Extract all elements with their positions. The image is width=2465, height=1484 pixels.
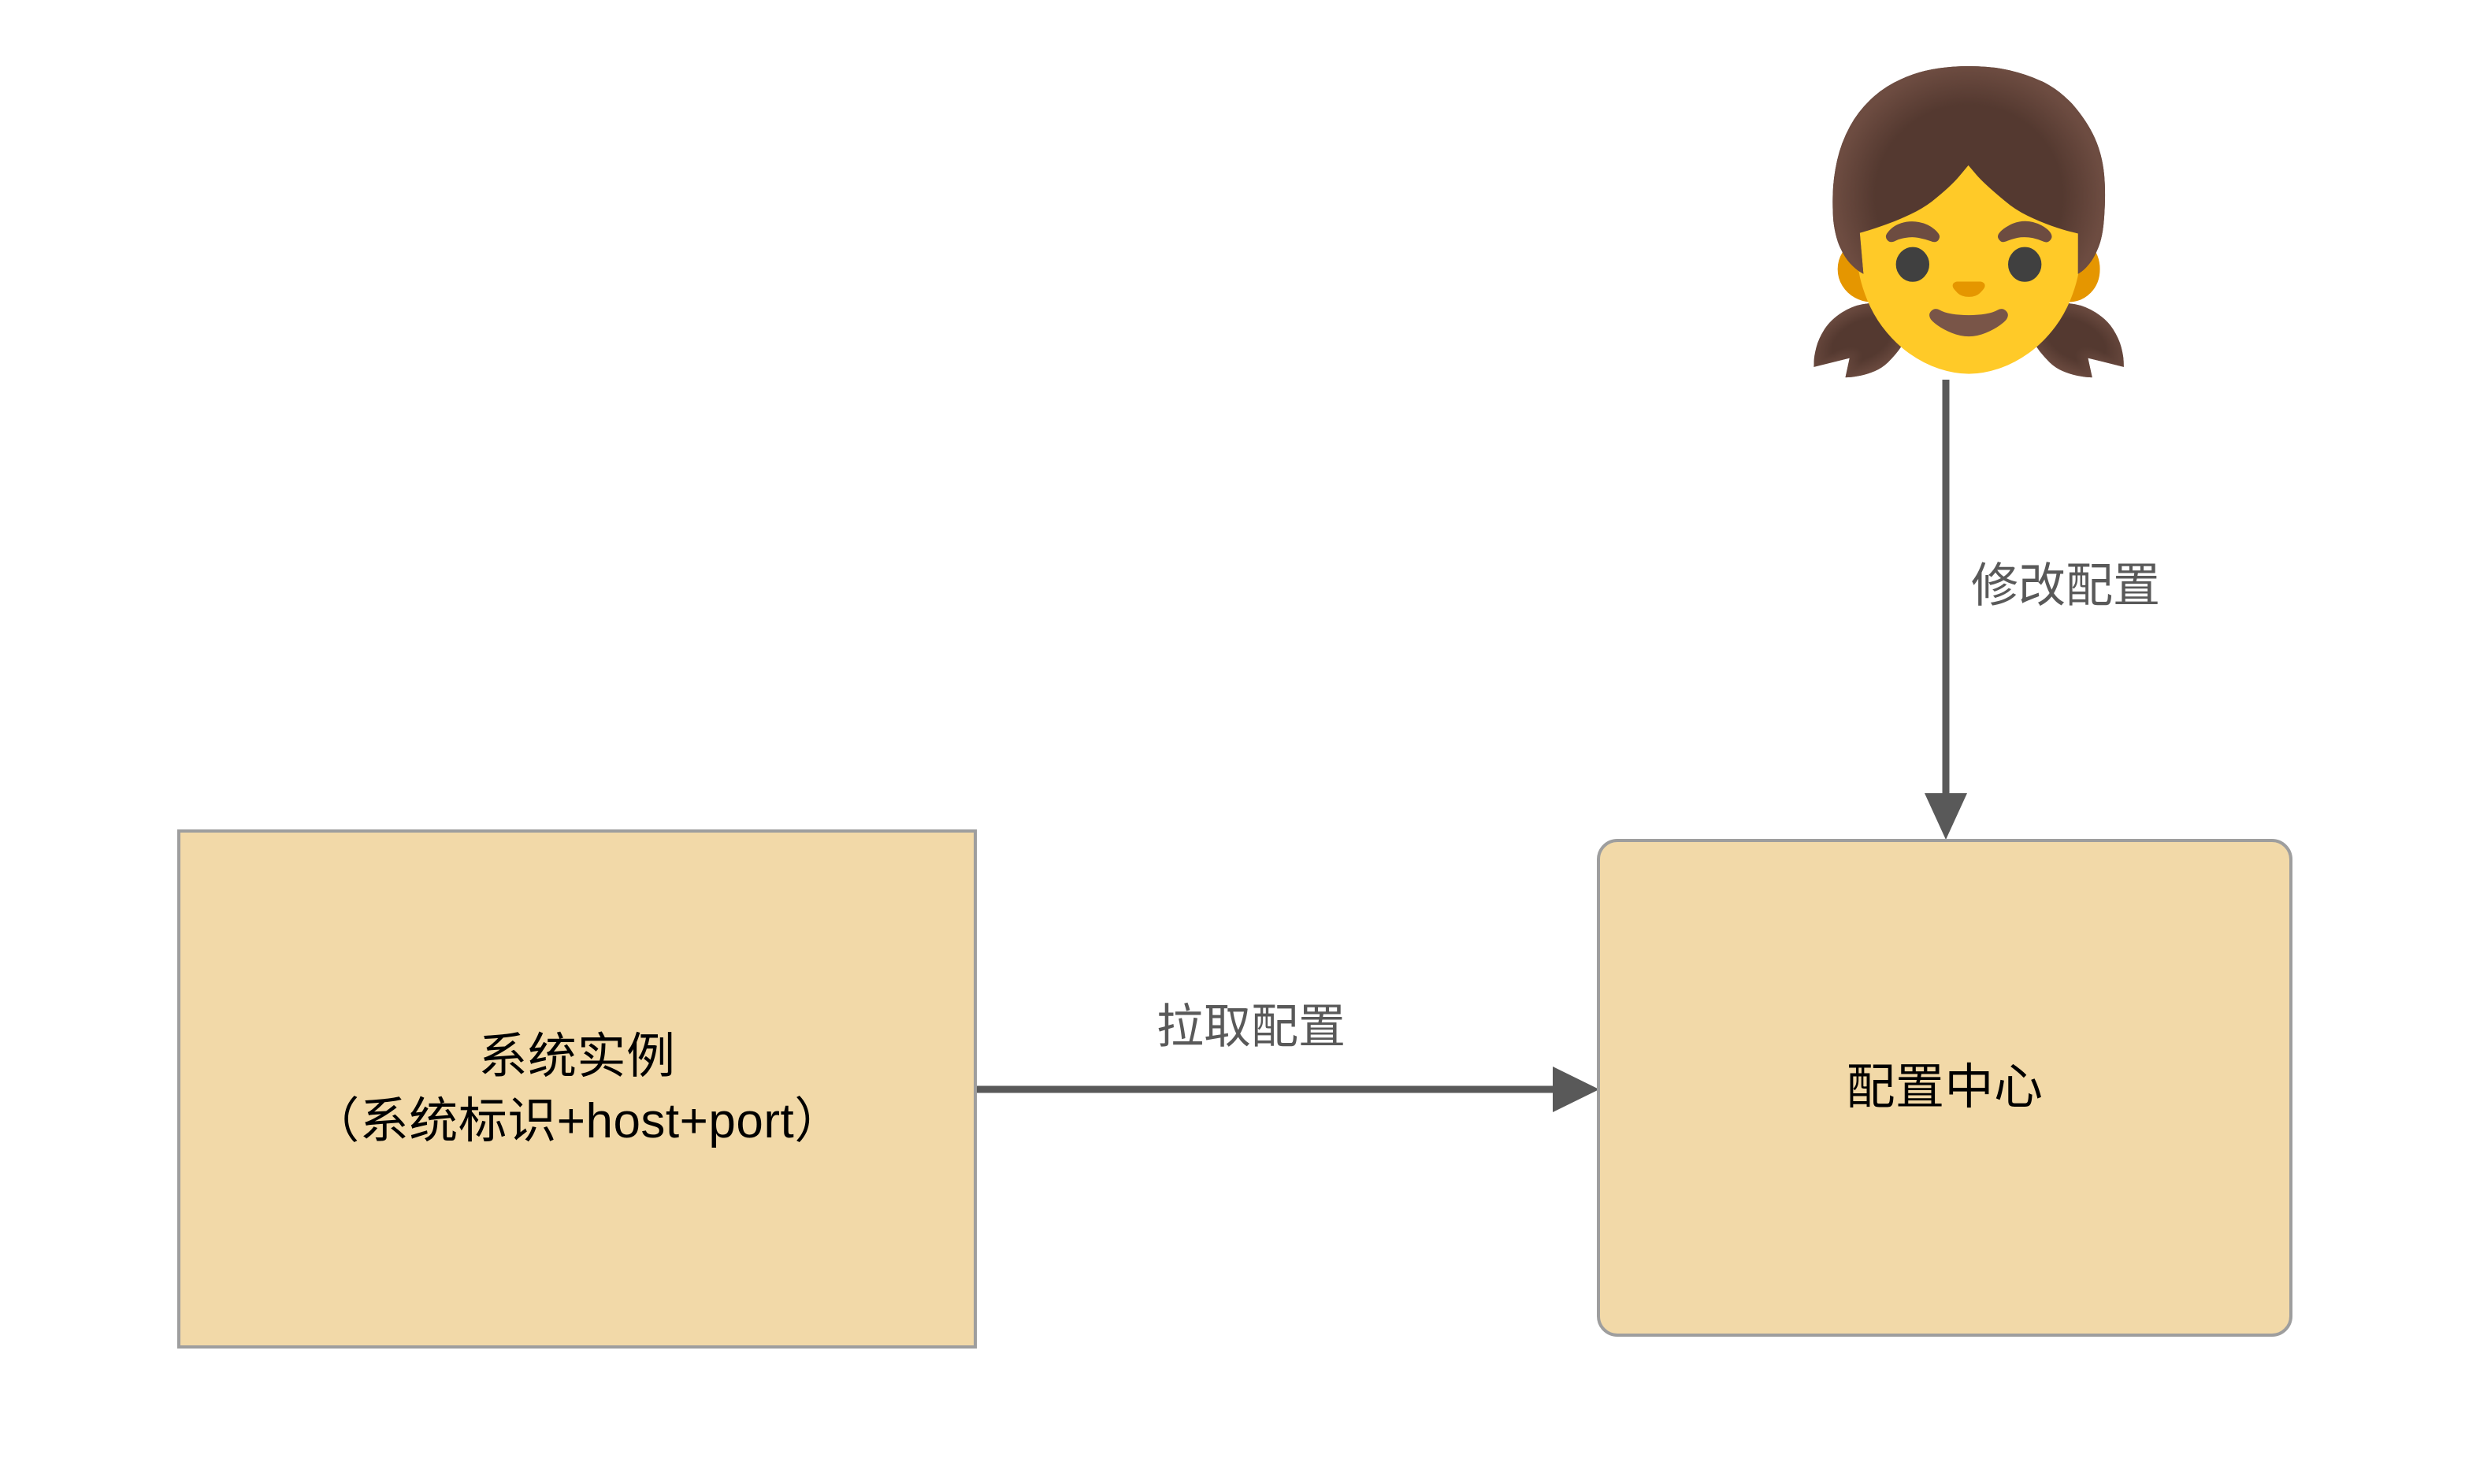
diagram-canvas: 👧 修改配置 拉取配置 系统实例 （系统标识+host+port） 配置中心 [0, 0, 2465, 1484]
edge-pull-config-arrowhead [1553, 1067, 1599, 1112]
edge-label-pull-config: 拉取配置 [1156, 999, 1346, 1055]
edge-modify-config [1925, 380, 1967, 840]
edge-label-modify-config: 修改配置 [1971, 558, 2160, 614]
girl-emoji-icon: 👧 [1792, 67, 2101, 376]
node-config-center[interactable]: 配置中心 [1597, 839, 2292, 1337]
node-system-instance[interactable]: 系统实例 （系统标识+host+port） [177, 829, 977, 1349]
node-system-instance-label: 系统实例 （系统标识+host+port） [310, 1025, 843, 1154]
node-system-instance-line2: （系统标识+host+port） [310, 1089, 843, 1154]
node-system-instance-line1: 系统实例 [478, 1030, 675, 1084]
node-config-center-label: 配置中心 [1846, 1055, 2043, 1120]
edge-modify-config-arrowhead [1925, 793, 1967, 840]
edge-pull-config [977, 1067, 1599, 1112]
